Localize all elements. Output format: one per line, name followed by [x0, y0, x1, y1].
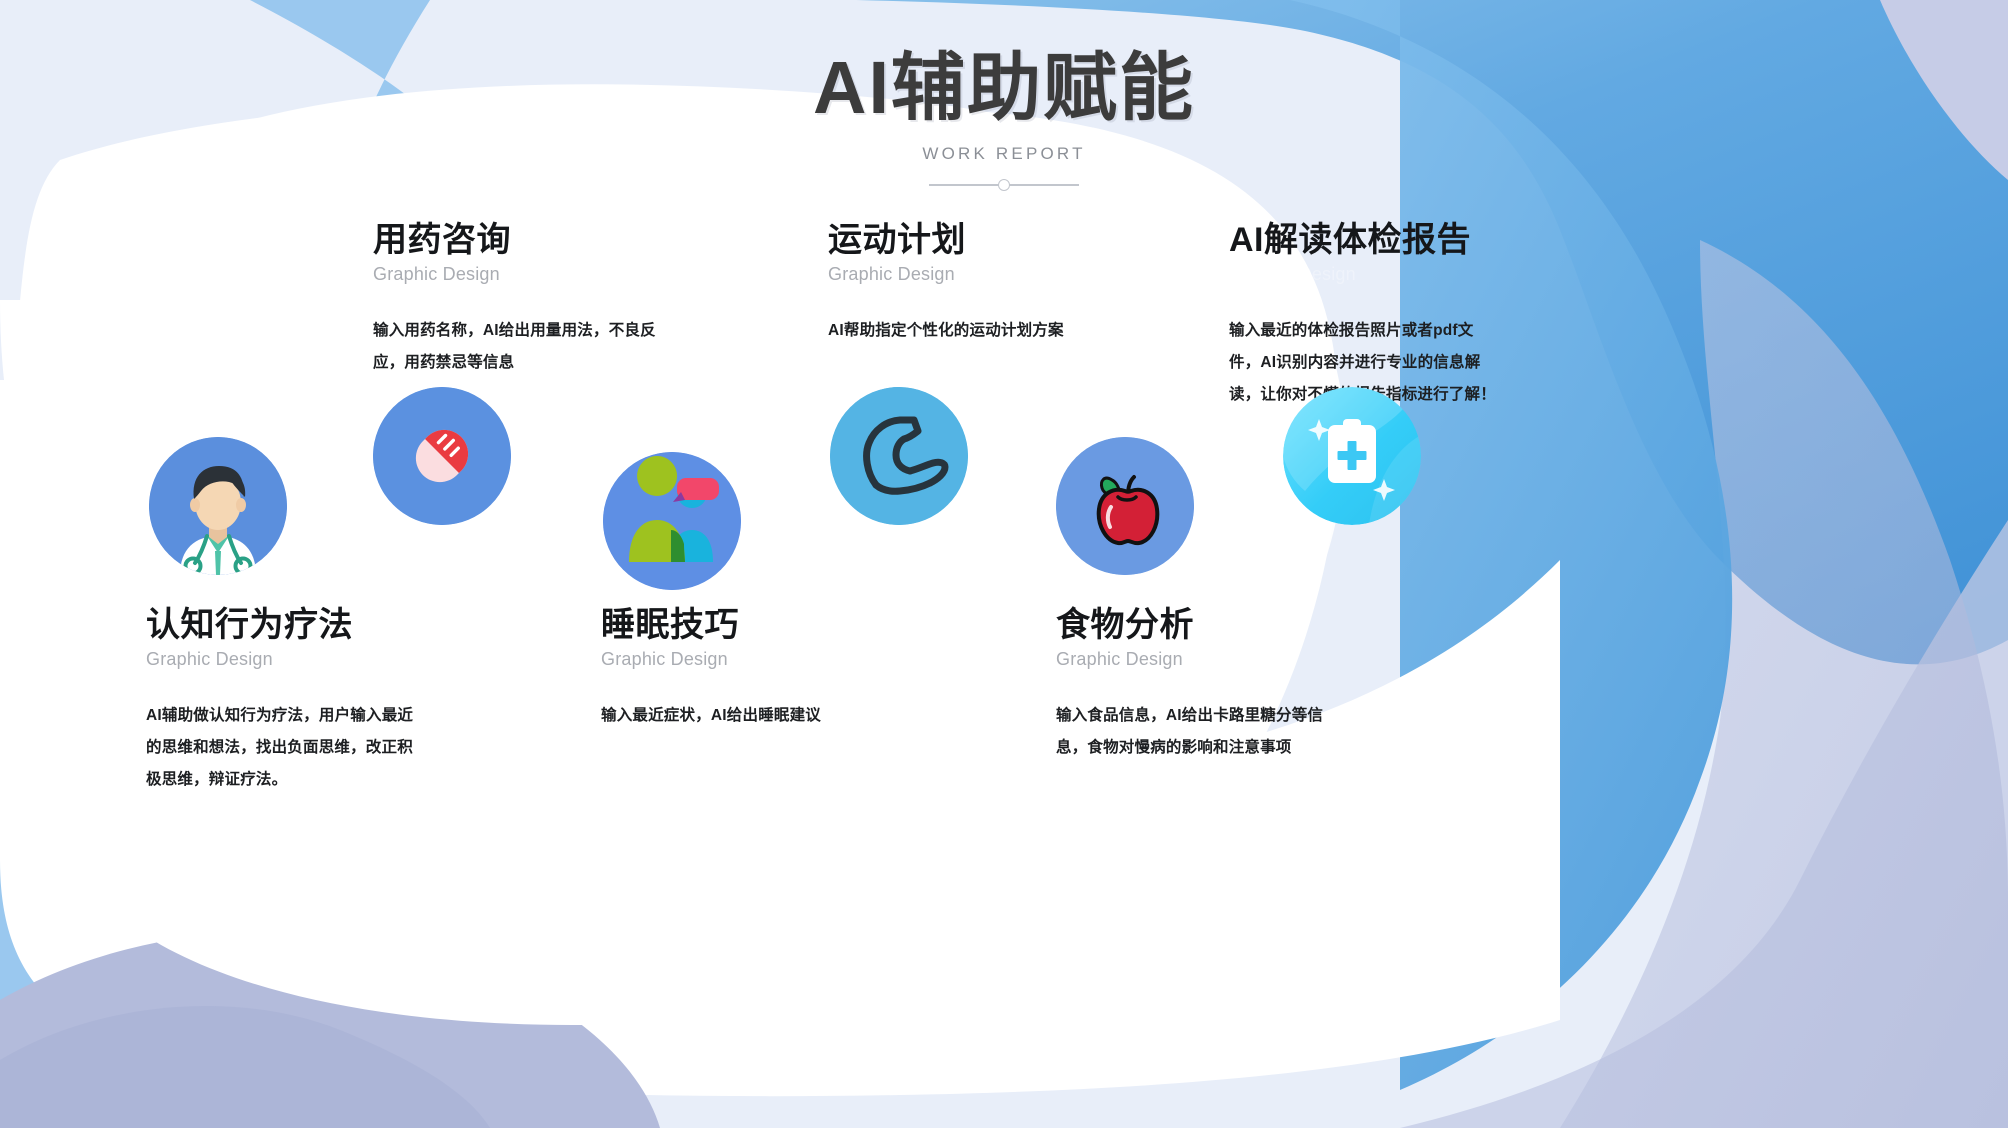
- feature-title: 认知行为疗法: [146, 605, 416, 645]
- page-title: AI辅助赋能: [0, 48, 2008, 128]
- feature-subtitle: Graphic Design: [146, 649, 416, 670]
- feature-subtitle: Graphic Design: [1229, 264, 1501, 285]
- feature-title: AI解读体检报告: [1229, 220, 1501, 260]
- title-divider: [929, 178, 1079, 192]
- doctor-avatar-icon: [149, 437, 287, 575]
- feature-subtitle: Graphic Design: [373, 264, 673, 285]
- feature-subtitle: Graphic Design: [1056, 649, 1328, 670]
- slide-canvas: AI辅助赋能 WORK REPORT: [0, 0, 2008, 1128]
- page-subtitle: WORK REPORT: [0, 144, 2008, 164]
- icon-cbt[interactable]: [149, 437, 287, 575]
- icon-medication[interactable]: [373, 387, 511, 525]
- feature-exercise: 运动计划 Graphic Design AI帮助指定个性化的运动计划方案: [828, 220, 1108, 347]
- feature-description: 输入最近症状，AI给出睡眠建议: [601, 700, 881, 732]
- feature-food: 食物分析 Graphic Design 输入食品信息，AI给出卡路里糖分等信息，…: [1056, 605, 1328, 764]
- feature-report: AI解读体检报告 Graphic Design 输入最近的体检报告照片或者pdf…: [1229, 220, 1501, 410]
- two-people-speech-icon: [603, 452, 741, 590]
- feature-title: 食物分析: [1056, 605, 1328, 645]
- feature-description: 输入用药名称，AI给出用量用法，不良反应，用药禁忌等信息: [373, 315, 673, 379]
- feature-title: 运动计划: [828, 220, 1108, 260]
- feature-subtitle: Graphic Design: [601, 649, 881, 670]
- feature-title: 睡眠技巧: [601, 605, 881, 645]
- feature-cbt: 认知行为疗法 Graphic Design AI辅助做认知行为疗法，用户输入最近…: [146, 605, 416, 795]
- icon-exercise[interactable]: [830, 387, 968, 525]
- icon-food[interactable]: [1056, 437, 1194, 575]
- feature-description: AI辅助做认知行为疗法，用户输入最近的思维和想法，找出负面思维，改正积极思维，辩…: [146, 700, 416, 795]
- capsule-pill-icon: [373, 387, 511, 525]
- red-apple-icon: [1056, 437, 1194, 575]
- feature-description: AI帮助指定个性化的运动计划方案: [828, 315, 1108, 347]
- icon-sleep[interactable]: [603, 452, 741, 590]
- feature-description: 输入食品信息，AI给出卡路里糖分等信息，食物对慢病的影响和注意事项: [1056, 700, 1328, 764]
- feature-subtitle: Graphic Design: [828, 264, 1108, 285]
- feature-sleep: 睡眠技巧 Graphic Design 输入最近症状，AI给出睡眠建议: [601, 605, 881, 732]
- medical-clipboard-icon: [1283, 387, 1421, 525]
- flexed-biceps-icon: [830, 387, 968, 525]
- feature-title: 用药咨询: [373, 220, 673, 260]
- feature-medication: 用药咨询 Graphic Design 输入用药名称，AI给出用量用法，不良反应…: [373, 220, 673, 379]
- divider-dot-icon: [998, 179, 1010, 191]
- slide-header: AI辅助赋能 WORK REPORT: [0, 48, 2008, 192]
- icon-report[interactable]: [1283, 387, 1421, 525]
